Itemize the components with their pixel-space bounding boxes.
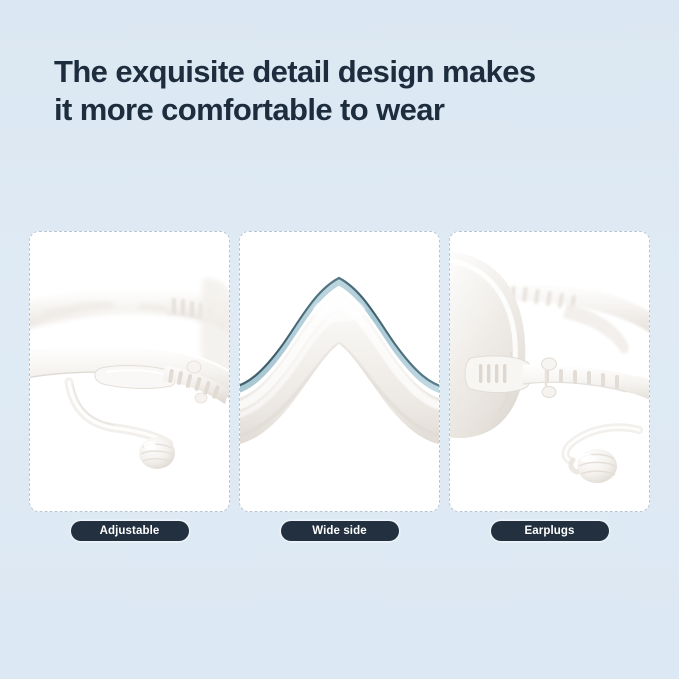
- product-feature-banner: The exquisite detail design makes it mor…: [0, 0, 679, 679]
- feature-caption-row: Adjustable Wide side Earplugs: [29, 520, 650, 542]
- product-photo-wide-side: [240, 232, 439, 511]
- caption-cell-1: Adjustable: [29, 520, 230, 542]
- feature-panel-wide-side: [239, 231, 440, 512]
- caption-cell-2: Wide side: [239, 520, 440, 542]
- feature-panel-row: [29, 231, 650, 512]
- status-badge-adjustable: Adjustable: [71, 521, 189, 541]
- feature-panel-earplugs: [449, 231, 650, 512]
- feature-panel-adjustable: [29, 231, 230, 512]
- headline-line-2: it more comfortable to wear: [54, 91, 654, 129]
- status-badge-earplugs: Earplugs: [491, 521, 609, 541]
- headline-line-1: The exquisite detail design makes: [54, 53, 654, 91]
- caption-cell-3: Earplugs: [449, 520, 650, 542]
- product-photo-adjustable: [30, 232, 229, 511]
- page-title: The exquisite detail design makes it mor…: [54, 53, 654, 129]
- product-photo-earplugs: [450, 232, 649, 511]
- status-badge-wide-side: Wide side: [281, 521, 399, 541]
